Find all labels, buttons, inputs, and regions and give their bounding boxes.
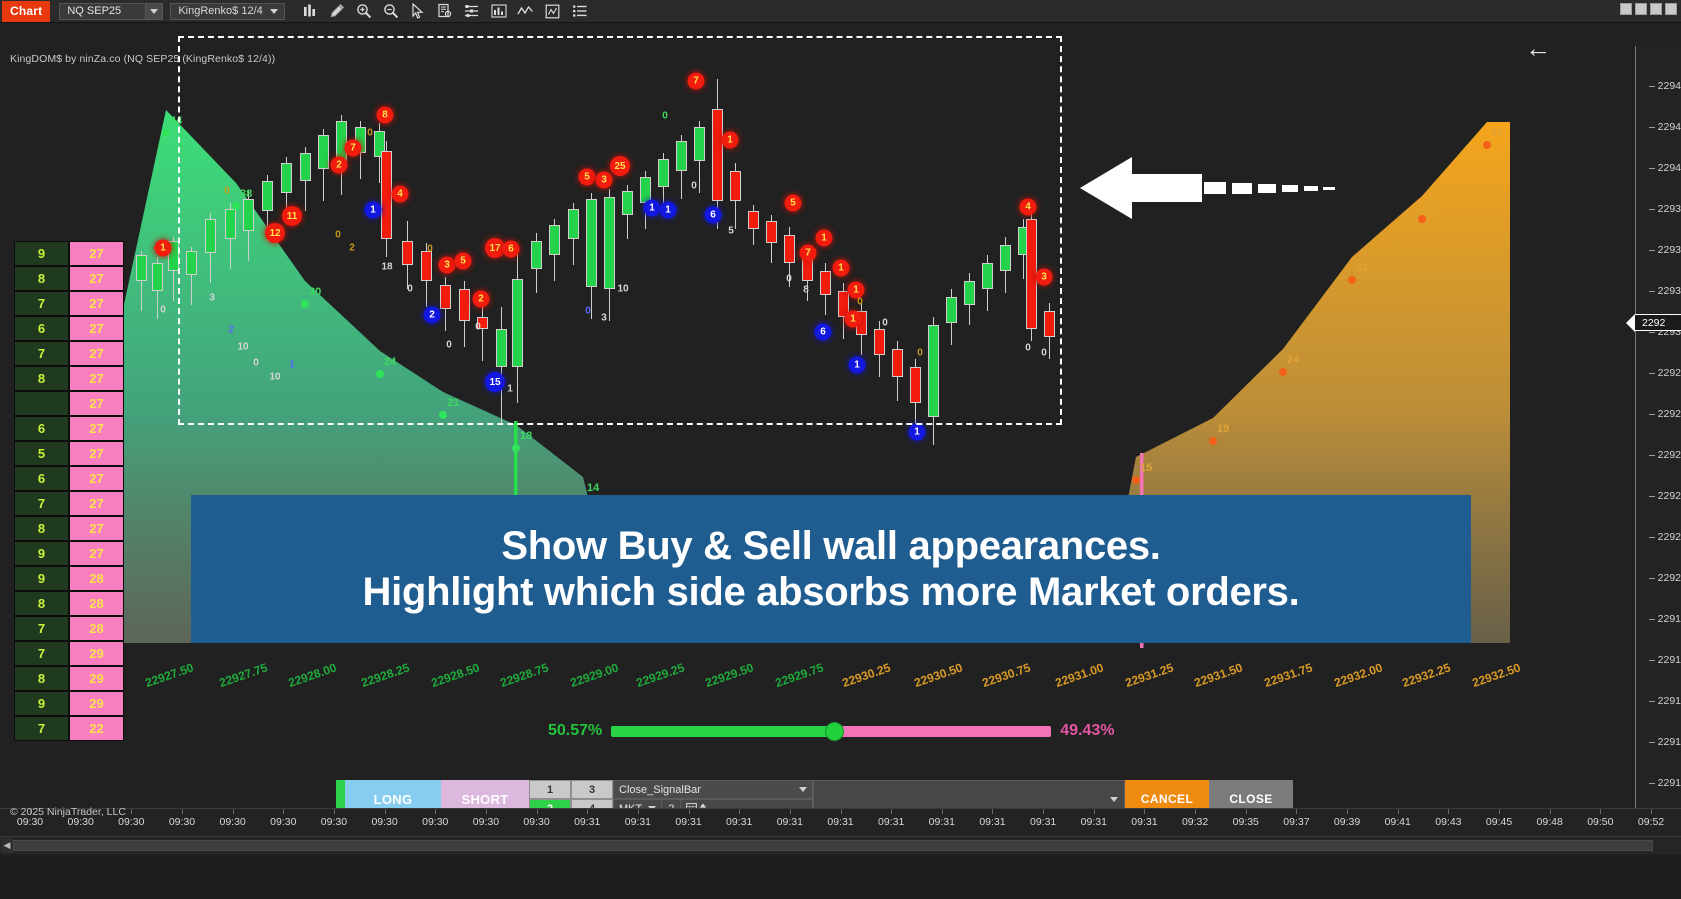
ratio-track[interactable] [611, 726, 1051, 737]
depth-point-label: 24 [1287, 354, 1299, 366]
buy-sell-ratio-slider[interactable]: 50.57% 49.43% [548, 718, 1148, 744]
callout-banner: Show Buy & Sell wall appearances. Highli… [191, 495, 1471, 643]
time-axis-label: 09:45 [1486, 816, 1512, 828]
dom-ask-cell[interactable]: 27 [69, 341, 124, 366]
depth-point-dot [1418, 215, 1426, 223]
order-flow-count-label: 0 [786, 274, 792, 285]
order-flow-count-label: 0 [446, 340, 452, 351]
candle-body [604, 197, 615, 289]
order-flow-bubble: 8 [377, 107, 394, 124]
time-axis-label: 09:30 [371, 816, 397, 828]
time-axis-tick [1347, 809, 1348, 814]
scroll-left-arrow-icon[interactable]: ◀ [1, 838, 13, 853]
time-axis-tick [992, 809, 993, 814]
order-flow-count-label: 0 [160, 305, 166, 316]
tick-label: 2291 [1658, 736, 1681, 748]
order-flow-bubble: 1 [849, 357, 866, 374]
time-axis-tick [1144, 809, 1145, 814]
dom-ask-cell[interactable]: 27 [69, 441, 124, 466]
dom-ladder-row[interactable]: 727 [14, 341, 124, 366]
time-axis-tick [891, 809, 892, 814]
tick-label: 2294 [1658, 162, 1681, 174]
price-axis-x: 22927.5022927.7522928.0022928.2522928.50… [0, 648, 1681, 708]
dom-bid-cell[interactable]: 8 [14, 516, 69, 541]
depth-point-label: 43 [1491, 127, 1503, 139]
candle-body [402, 241, 413, 265]
time-axis-label: 09:39 [1334, 816, 1360, 828]
dom-ask-cell[interactable]: 27 [69, 466, 124, 491]
tick-dash [1649, 414, 1655, 415]
price-axis-x-label: 22930.25 [840, 660, 892, 690]
price-axis-y-tick: 2291 [1649, 654, 1681, 666]
time-axis-label: 09:30 [321, 816, 347, 828]
time-axis-label: 09:31 [625, 816, 651, 828]
depth-point-dot [376, 370, 384, 378]
price-axis-y[interactable]: 2294229422942293229322932293229222922292… [1635, 46, 1681, 838]
depth-point-label: 21 [447, 397, 459, 409]
candle-body [549, 225, 560, 255]
trading-app-window: Chart NQ SEP25 KingRenko$ 12/4 [0, 0, 1681, 899]
time-axis-tick [1550, 809, 1551, 814]
order-flow-bubble: 7 [688, 73, 705, 90]
price-axis-y-tick: 2292 [1649, 531, 1681, 543]
order-target-select[interactable]: Close_SignalBar [613, 780, 813, 799]
time-axis-label: 09:30 [422, 816, 448, 828]
candle-body [136, 255, 147, 281]
candle-body [874, 329, 885, 355]
order-flow-count-label: 0 [427, 244, 433, 255]
time-axis-label: 09:31 [1131, 816, 1157, 828]
time-axis-label: 09:30 [270, 816, 296, 828]
candle-body [1000, 245, 1011, 271]
candle-body [205, 219, 216, 253]
indicator-icon[interactable] [460, 1, 484, 22]
close-button[interactable] [1665, 3, 1677, 15]
order-flow-bubble: 7 [800, 245, 817, 262]
dom-ladder-row[interactable]: 827 [14, 266, 124, 291]
dom-ask-cell[interactable]: 27 [69, 516, 124, 541]
tick-dash [1649, 250, 1655, 251]
minimize-button[interactable] [1620, 3, 1632, 15]
time-axis-tick [841, 809, 842, 814]
dom-ask-cell[interactable]: 27 [69, 416, 124, 441]
dom-bid-cell[interactable]: 8 [14, 591, 69, 616]
dom-bid-cell[interactable]: 7 [14, 491, 69, 516]
dom-bid-cell[interactable]: 9 [14, 241, 69, 266]
price-axis-x-label: 22928.50 [429, 660, 481, 690]
price-axis-x-label: 22928.25 [359, 660, 411, 690]
dom-ask-cell[interactable]: 27 [69, 316, 124, 341]
order-flow-count-label: 0 [335, 230, 341, 241]
dom-bid-cell[interactable]: 9 [14, 566, 69, 591]
order-flow-bubble: 3 [439, 257, 456, 274]
dom-ladder-row[interactable]: 627 [14, 316, 124, 341]
candle-body [928, 325, 939, 417]
order-flow-count-label: 0 [662, 111, 668, 122]
price-axis-y-tick: 2293 [1649, 203, 1681, 215]
price-axis-x-label: 22931.00 [1053, 660, 1105, 690]
time-axis-label: 09:31 [1030, 816, 1056, 828]
dom-ask-cell[interactable]: 28 [69, 616, 124, 641]
dom-bid-cell[interactable] [14, 391, 69, 416]
price-axis-y-tick: 2291 [1649, 736, 1681, 748]
list-icon[interactable] [568, 1, 592, 22]
time-axis-tick [537, 809, 538, 814]
candle-body [152, 263, 163, 291]
order-flow-bubble: 15 [485, 372, 505, 392]
order-flow-count-label: 10 [617, 284, 628, 295]
time-axis-label: 09:30 [523, 816, 549, 828]
dom-ladder-row[interactable]: 727 [14, 491, 124, 516]
depth-point-dot [1279, 368, 1287, 376]
price-axis-y-tick: 2294 [1649, 121, 1681, 133]
time-axis-tick [233, 809, 234, 814]
price-axis-x-label: 22930.75 [980, 660, 1032, 690]
candle-body [748, 211, 759, 229]
order-flow-bubble: 5 [579, 169, 596, 186]
back-arrow-icon[interactable]: ← [1525, 35, 1551, 61]
candle-body [459, 289, 470, 321]
qty-preset-3[interactable]: 3 [571, 780, 613, 799]
time-axis-tick [131, 809, 132, 814]
time-axis-tick [587, 809, 588, 814]
time-axis-tick [1246, 809, 1247, 814]
candle-body [262, 181, 273, 211]
order-flow-count-label: 0 [691, 181, 697, 192]
buy-percent-label: 50.57% [548, 722, 602, 740]
time-axis-tick [283, 809, 284, 814]
time-axis-tick [1499, 809, 1500, 814]
time-axis-label: 09:32 [1182, 816, 1208, 828]
time-axis-tick [486, 809, 487, 814]
dom-ladder-row[interactable]: 727 [14, 291, 124, 316]
dom-bid-cell[interactable]: 7 [14, 341, 69, 366]
price-axis-y-tick: 2292 [1649, 449, 1681, 461]
candle-body [586, 199, 597, 287]
sell-percent-label: 49.43% [1060, 722, 1114, 740]
candle-body [766, 221, 777, 243]
tick-dash [1649, 291, 1655, 292]
ratio-slider-knob[interactable] [825, 722, 844, 741]
dom-ask-cell[interactable]: 27 [69, 241, 124, 266]
price-axis-y-tick: 2292 [1649, 572, 1681, 584]
dom-ask-cell[interactable]: 27 [69, 541, 124, 566]
depth-point-label: 15 [1140, 462, 1152, 474]
order-flow-bubble: 1 [816, 230, 833, 247]
maximize-button[interactable] [1635, 3, 1647, 15]
order-flow-bubble: 1 [845, 311, 862, 328]
time-axis-label: 09:35 [1233, 816, 1259, 828]
time-axis-label: 09:31 [1081, 816, 1107, 828]
candle-body [440, 285, 451, 309]
snapshot-icon[interactable] [541, 1, 565, 22]
candle-body [730, 171, 741, 201]
order-flow-bubble: 7 [345, 140, 362, 157]
ratio-pink-fill [834, 726, 1052, 737]
price-axis-y-tick: 2293 [1649, 285, 1681, 297]
dom-ladder-row[interactable]: 927 [14, 541, 124, 566]
order-flow-bubble: 3 [596, 172, 613, 189]
candle-body [694, 127, 705, 161]
depth-point-dot [162, 129, 170, 137]
dom-ladder-row[interactable]: 828 [14, 591, 124, 616]
order-flow-count-label: 3 [601, 313, 607, 324]
time-axis-tick [1094, 809, 1095, 814]
time-axis-tick [739, 809, 740, 814]
candle-body [982, 263, 993, 289]
main-toolbar: Chart NQ SEP25 KingRenko$ 12/4 [0, 0, 1681, 23]
order-flow-count-label: 0 [585, 306, 591, 317]
candle-body [496, 329, 507, 367]
order-flow-count-label: 5 [728, 226, 734, 237]
dom-ladder-row[interactable]: 27 [14, 391, 124, 416]
dom-bid-cell[interactable]: 6 [14, 466, 69, 491]
line-study-icon[interactable] [514, 1, 538, 22]
depth-point-label: 18 [520, 430, 532, 442]
order-flow-count-label: 0 [475, 322, 481, 333]
time-axis-tick [689, 809, 690, 814]
order-flow-bubble: 2 [473, 291, 490, 308]
dom-ask-cell[interactable]: 27 [69, 266, 124, 291]
order-flow-bubble: 4 [1020, 199, 1037, 216]
depth-point-label: 38 [240, 188, 252, 200]
dom-bid-cell[interactable]: 7 [14, 616, 69, 641]
candle-body [784, 235, 795, 263]
price-axis-x-label: 22929.50 [703, 660, 755, 690]
time-axis-tick [385, 809, 386, 814]
copyright-label: © 2025 NinjaTrader, LLC [10, 806, 126, 818]
dom-ask-cell[interactable]: 27 [69, 366, 124, 391]
restore-button[interactable] [1650, 3, 1662, 15]
chart-canvas[interactable]: 7871225534114512111763571321111161526110… [0, 23, 1681, 899]
order-flow-count-label: 10 [237, 342, 248, 353]
candle-body [568, 209, 579, 239]
order-flow-bubble: 2 [424, 307, 441, 324]
dom-ladder-row[interactable]: 827 [14, 516, 124, 541]
dom-ladder-row[interactable]: 527 [14, 441, 124, 466]
tick-dash [1649, 86, 1655, 87]
tick-dash [1649, 537, 1655, 538]
qty-preset-1[interactable]: 1 [529, 780, 571, 799]
dom-ladder-row[interactable]: 627 [14, 466, 124, 491]
time-axis-label: 09:30 [219, 816, 245, 828]
chevron-down-icon[interactable] [145, 4, 162, 19]
tick-dash [1649, 701, 1655, 702]
candle-body [964, 281, 975, 305]
order-flow-bubble: 5 [455, 253, 472, 270]
tick-dash [1649, 209, 1655, 210]
tick-dash [1649, 783, 1655, 784]
time-axis-label: 09:43 [1435, 816, 1461, 828]
order-flow-bubble: 5 [785, 195, 802, 212]
order-flow-bubble: 1 [644, 200, 661, 217]
price-axis-y-tick: 2291 [1649, 695, 1681, 707]
tick-label: 2292 [1658, 572, 1681, 584]
order-flow-count-label: 0 [917, 348, 923, 359]
dom-ask-cell[interactable]: 27 [69, 491, 124, 516]
dom-bid-cell[interactable]: 8 [14, 366, 69, 391]
time-axis-tick [1600, 809, 1601, 814]
tick-label: 2292 [1658, 490, 1681, 502]
time-axis-label: 09:30 [169, 816, 195, 828]
time-axis-label: 09:31 [574, 816, 600, 828]
dom-bid-cell[interactable]: 7 [14, 716, 69, 741]
depth-point-label: 19 [1217, 423, 1229, 435]
order-flow-count-label: 18 [381, 262, 392, 273]
order-flow-count-label: 3 [209, 293, 215, 304]
tick-dash [1649, 496, 1655, 497]
depth-point-dot [512, 444, 520, 452]
dom-bid-cell[interactable]: 8 [14, 266, 69, 291]
order-flow-bubble: 1 [155, 240, 172, 257]
zoom-out-icon[interactable] [379, 1, 403, 22]
candle-body [820, 271, 831, 295]
order-flow-count-label: 0 [857, 297, 863, 308]
candle-body [318, 135, 329, 169]
dom-bid-cell[interactable]: 6 [14, 316, 69, 341]
order-flow-bubble: 6 [815, 324, 832, 341]
price-axis-x-label: 22927.50 [143, 660, 195, 690]
tick-label: 2291 [1658, 654, 1681, 666]
dom-bid-cell[interactable]: 9 [14, 541, 69, 566]
order-flow-bubble: 6 [503, 241, 520, 258]
pencil-icon[interactable] [325, 1, 349, 22]
chart-graphics [0, 23, 1681, 899]
price-axis-y-tick: 2292 [1649, 408, 1681, 420]
interval-selector[interactable]: KingRenko$ 12/4 [170, 3, 284, 20]
tick-label: 2294 [1658, 121, 1681, 133]
dom-bid-cell[interactable]: 5 [14, 441, 69, 466]
bar-chart-icon[interactable] [298, 1, 322, 22]
tick-dash [1649, 455, 1655, 456]
depth-point-label: 24 [384, 356, 396, 368]
price-axis-x-label: 22929.00 [568, 660, 620, 690]
chart-title: KingDOM$ by ninZa.co (NQ SEP25 (KingRenk… [10, 53, 275, 65]
instrument-selector[interactable]: NQ SEP25 [59, 3, 163, 20]
time-axis-label: 09:52 [1638, 816, 1664, 828]
dom-ladder-row[interactable]: 722 [14, 716, 124, 741]
dom-bid-cell[interactable]: 6 [14, 416, 69, 441]
price-axis-y-tick: 2292 [1649, 490, 1681, 502]
candle-body [892, 349, 903, 377]
dom-ask-cell[interactable]: 27 [69, 391, 124, 416]
dom-ladder-row[interactable]: 927 [14, 241, 124, 266]
price-axis-x-label: 22931.75 [1262, 660, 1314, 690]
depth-point-label: 37 [1426, 201, 1438, 213]
depth-point-label: 30 [309, 286, 321, 298]
order-flow-count-label: 0 [1041, 348, 1047, 359]
banner-line-2: Highlight which side absorbs more Market… [363, 571, 1300, 613]
dom-ladder-row[interactable]: 728 [14, 616, 124, 641]
chevron-down-icon [270, 9, 278, 14]
dom-ladder-row[interactable]: 827 [14, 366, 124, 391]
time-axis: 09:3009:3009:3009:3009:3009:3009:3009:30… [0, 808, 1681, 836]
tick-label: 2293 [1658, 244, 1681, 256]
tick-label: 2292 [1658, 408, 1681, 420]
footer-area [0, 855, 1681, 899]
dom-ask-cell[interactable]: 28 [69, 591, 124, 616]
zoom-in-icon[interactable] [352, 1, 376, 22]
time-axis-label: 09:31 [827, 816, 853, 828]
order-flow-count-label: 10 [269, 372, 280, 383]
order-flow-bubble: 25 [610, 156, 630, 176]
cursor-icon[interactable] [406, 1, 430, 22]
price-axis-x-label: 22932.50 [1470, 660, 1522, 690]
depth-point-label: 14 [587, 482, 599, 494]
order-flow-count-label: 0 [224, 186, 230, 197]
current-price-marker: 2292 [1635, 314, 1681, 331]
time-axis-tick [182, 809, 183, 814]
chart-menu-button[interactable]: Chart [2, 1, 50, 22]
time-axis-tick [1398, 809, 1399, 814]
banner-line-1: Show Buy & Sell wall appearances. [501, 525, 1160, 567]
tick-dash [1649, 619, 1655, 620]
time-axis-label: 09:31 [878, 816, 904, 828]
ratio-green-fill [611, 726, 834, 737]
dom-ladder-row[interactable]: 928 [14, 566, 124, 591]
data-box-icon[interactable] [433, 1, 457, 22]
tick-label: 2292 [1658, 367, 1681, 379]
tick-label: 2291 [1658, 695, 1681, 707]
order-flow-bubble: 12 [265, 223, 285, 243]
order-flow-count-label: 0 [367, 128, 373, 139]
candle-body [421, 251, 432, 281]
dom-ask-cell[interactable]: 28 [69, 566, 124, 591]
order-flow-bubble: 4 [392, 186, 409, 203]
depth-point-dot [301, 300, 309, 308]
tick-label: 2291 [1658, 777, 1681, 789]
tick-label: 2291 [1658, 613, 1681, 625]
candle-body [243, 199, 254, 231]
dom-ladder-row[interactable]: 627 [14, 416, 124, 441]
candle-body [712, 109, 723, 201]
candle-body [336, 121, 347, 161]
horizontal-scrollbar[interactable]: ◀ [0, 836, 1681, 854]
dom-ask-cell[interactable]: 27 [69, 291, 124, 316]
depth-point-dot [1483, 141, 1491, 149]
scrollbar-thumb[interactable] [13, 840, 1653, 851]
dom-ask-cell[interactable]: 22 [69, 716, 124, 741]
candle-body [910, 367, 921, 403]
time-axis-tick [1651, 809, 1652, 814]
time-axis-label: 09:31 [675, 816, 701, 828]
price-axis-y-tick: 2292 [1649, 367, 1681, 379]
depth-point-dot [232, 202, 240, 210]
price-axis-x-label: 22928.00 [286, 660, 338, 690]
interval-selector-value: KingRenko$ 12/4 [178, 5, 262, 17]
price-axis-y-tick: 2294 [1649, 80, 1681, 92]
candle-body [658, 159, 669, 187]
dom-bid-cell[interactable]: 7 [14, 291, 69, 316]
instrument-selector-value: NQ SEP25 [67, 5, 121, 17]
time-axis-label: 09:31 [726, 816, 752, 828]
price-axis-x-label: 22928.75 [498, 660, 550, 690]
candle-body [225, 209, 236, 239]
tick-dash [1649, 127, 1655, 128]
price-axis-y-tick: 2294 [1649, 162, 1681, 174]
tick-label: 2292 [1658, 449, 1681, 461]
order-flow-count-label: 0 [1025, 343, 1031, 354]
price-axis-x-label: 22932.25 [1400, 660, 1452, 690]
chevron-down-icon [799, 787, 807, 792]
depth-point-dot [439, 411, 447, 419]
price-axis-x-label: 22932.00 [1332, 660, 1384, 690]
time-axis-tick [1043, 809, 1044, 814]
price-axis-x-label: 22929.25 [634, 660, 686, 690]
histogram-icon[interactable] [487, 1, 511, 22]
time-axis-label: 09:31 [979, 816, 1005, 828]
order-flow-bubble: 1 [833, 260, 850, 277]
